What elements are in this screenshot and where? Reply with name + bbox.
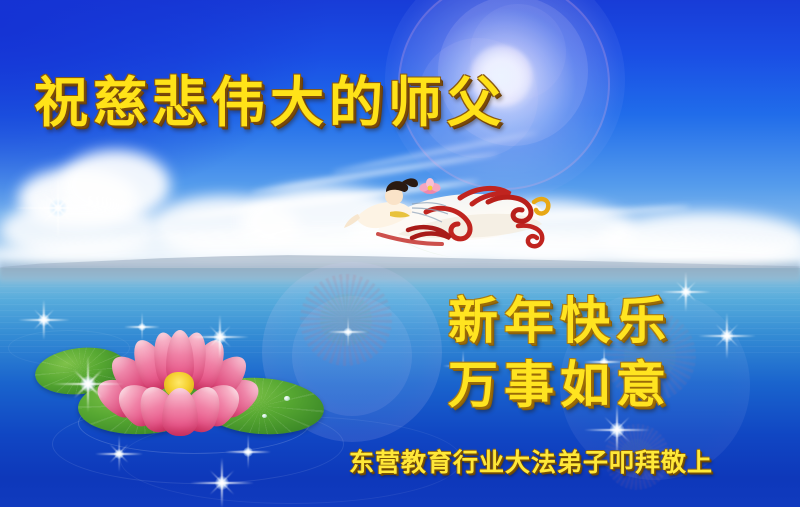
signature-text: 东营教育行业大法弟子叩拜敬上: [349, 450, 713, 475]
decorative-medallion: [300, 274, 392, 366]
water-droplet: [284, 396, 290, 401]
greeting-card: 祝慈悲伟大的师父 新年快乐 万事如意 东营教育行业大法弟子叩拜敬上: [0, 0, 800, 507]
greeting-line-1: 新年快乐: [448, 296, 672, 346]
greeting-line-2: 万事如意: [448, 360, 672, 410]
top-blessing-text: 祝慈悲伟大的师父: [34, 76, 506, 130]
lotus-flower: [96, 330, 264, 438]
flying-apsara: [338, 168, 553, 263]
